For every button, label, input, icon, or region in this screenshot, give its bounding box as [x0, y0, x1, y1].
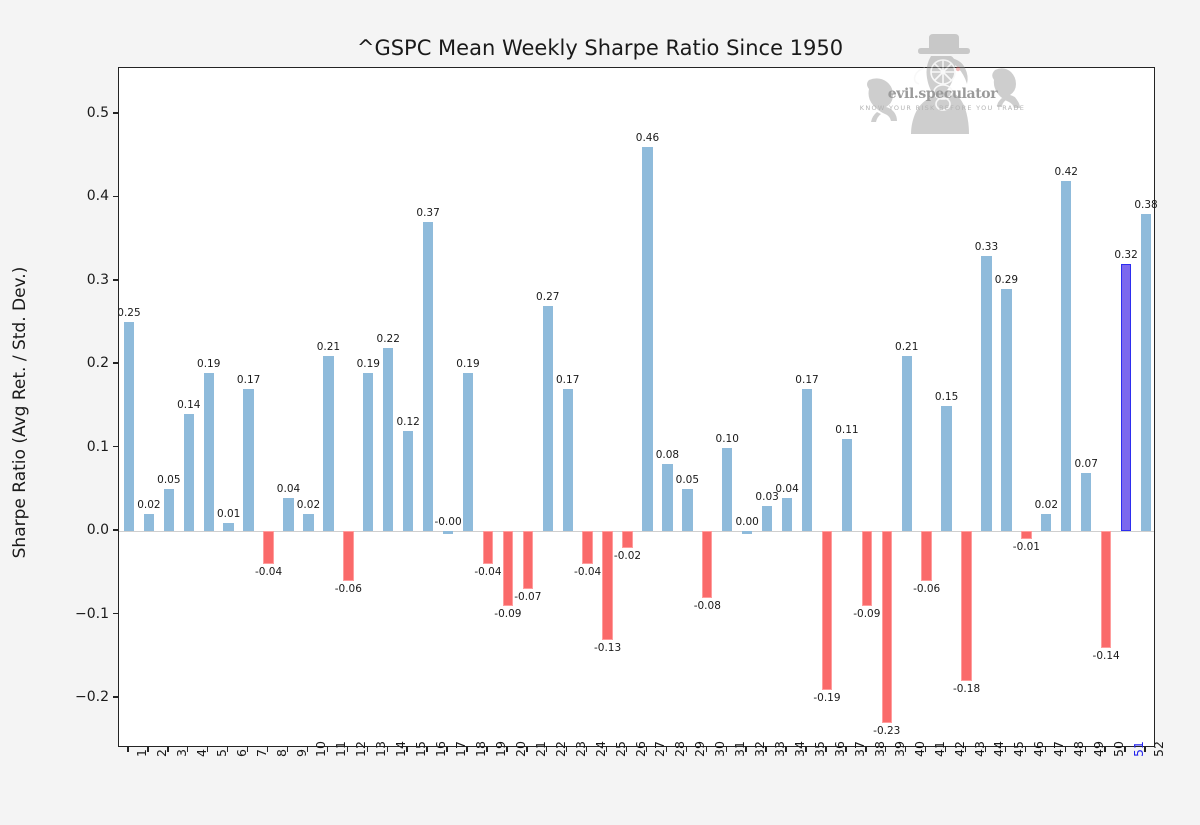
- bar-value-label: -0.02: [614, 550, 641, 562]
- x-tick-mark: [466, 747, 467, 752]
- bar-value-label: 0.21: [895, 341, 918, 353]
- bar-value-label: 0.02: [1035, 499, 1058, 511]
- bar: [204, 373, 214, 532]
- bar-value-label: 0.15: [935, 391, 958, 403]
- bar-value-label: 0.46: [636, 132, 659, 144]
- bar-value-label: -0.19: [813, 692, 840, 704]
- bar: [782, 498, 792, 531]
- x-tick-mark: [1124, 747, 1125, 752]
- x-tick-mark: [765, 747, 766, 752]
- bar: [124, 322, 134, 531]
- x-tick-mark: [566, 747, 567, 752]
- x-tick-mark: [1025, 747, 1026, 752]
- x-tick-mark: [985, 747, 986, 752]
- bar-value-label: 0.02: [137, 499, 160, 511]
- x-tick-mark: [167, 747, 168, 752]
- bar: [363, 373, 373, 532]
- bar: [602, 531, 612, 639]
- bar: [223, 523, 233, 531]
- bar-value-label: 0.02: [297, 499, 320, 511]
- bar: [403, 431, 413, 531]
- x-tick-mark: [745, 747, 746, 752]
- x-tick-mark: [825, 747, 826, 752]
- bar-value-label: 0.38: [1134, 199, 1157, 211]
- x-tick-mark: [1065, 747, 1066, 752]
- bar-value-label: 0.29: [995, 274, 1018, 286]
- bar-value-label: -0.04: [255, 566, 282, 578]
- bar: [423, 222, 433, 531]
- x-tick-mark: [785, 747, 786, 752]
- x-tick-mark: [865, 747, 866, 752]
- bar: [503, 531, 513, 606]
- bar: [443, 531, 453, 534]
- bar: [622, 531, 632, 548]
- bar-value-label: 0.17: [795, 374, 818, 386]
- bar: [1121, 264, 1131, 531]
- bar: [243, 389, 253, 531]
- bar-value-label: 0.27: [536, 291, 559, 303]
- bar-value-label: -0.00: [434, 516, 461, 528]
- x-tick-mark: [287, 747, 288, 752]
- bar-value-label: 0.00: [735, 516, 758, 528]
- bar: [862, 531, 872, 606]
- bars-layer: 0.250.020.050.140.190.010.17-0.040.040.0…: [119, 68, 1154, 746]
- x-tick-mark: [506, 747, 507, 752]
- bar-value-label: -0.04: [574, 566, 601, 578]
- y-tick-label: 0.0: [87, 522, 109, 538]
- y-tick-label: 0.2: [87, 355, 109, 371]
- bar: [642, 147, 652, 531]
- bar-value-label: 0.37: [416, 207, 439, 219]
- bar: [902, 356, 912, 531]
- x-tick-label: 52: [1151, 741, 1166, 757]
- x-tick-mark: [387, 747, 388, 752]
- bar-value-label: 0.19: [357, 358, 380, 370]
- bar: [662, 464, 672, 531]
- x-tick-mark: [686, 747, 687, 752]
- bar: [981, 256, 991, 531]
- bar-value-label: -0.04: [474, 566, 501, 578]
- bar-value-label: 0.25: [117, 307, 140, 319]
- y-tick-label: −0.2: [75, 689, 109, 705]
- x-tick-mark: [726, 747, 727, 752]
- bar: [463, 373, 473, 532]
- bar-value-label: -0.14: [1093, 650, 1120, 662]
- bar-value-label: -0.09: [853, 608, 880, 620]
- bar: [1141, 214, 1151, 531]
- x-tick-mark: [187, 747, 188, 752]
- bar: [1101, 531, 1111, 648]
- bar: [882, 531, 892, 723]
- bar: [343, 531, 353, 581]
- bar: [263, 531, 273, 564]
- figure-canvas: ^GSPC Mean Weekly Sharpe Ratio Since 195…: [0, 0, 1200, 825]
- bar-value-label: 0.05: [676, 474, 699, 486]
- x-tick-mark: [1005, 747, 1006, 752]
- x-tick-mark: [367, 747, 368, 752]
- watermark-brand: evil.speculator: [855, 86, 1030, 102]
- chart-title: ^GSPC Mean Weekly Sharpe Ratio Since 195…: [0, 36, 1200, 60]
- bar-value-label: -0.09: [494, 608, 521, 620]
- bar-value-label: -0.06: [335, 583, 362, 595]
- x-tick-mark: [646, 747, 647, 752]
- bar-value-label: 0.11: [835, 424, 858, 436]
- bar: [164, 489, 174, 531]
- bar: [144, 514, 154, 531]
- x-tick-mark: [845, 747, 846, 752]
- bar-value-label: -0.07: [514, 591, 541, 603]
- bar-value-label: 0.05: [157, 474, 180, 486]
- bar-value-label: 0.12: [396, 416, 419, 428]
- bar: [523, 531, 533, 589]
- x-tick-mark: [885, 747, 886, 752]
- bar: [762, 506, 772, 531]
- x-tick-mark: [606, 747, 607, 752]
- x-tick-mark: [426, 747, 427, 752]
- bar: [184, 414, 194, 531]
- bar: [323, 356, 333, 531]
- bar: [582, 531, 592, 564]
- bar-value-label: 0.10: [716, 433, 739, 445]
- x-tick-mark: [1085, 747, 1086, 752]
- y-axis-label: Sharpe Ratio (Avg Ret. / Std. Dev.): [0, 0, 40, 825]
- bar-value-label: 0.14: [177, 399, 200, 411]
- bar-value-label: 0.19: [197, 358, 220, 370]
- bar-value-label: 0.19: [456, 358, 479, 370]
- bar: [283, 498, 293, 531]
- x-tick-mark: [1144, 747, 1145, 752]
- bar-value-label: 0.17: [556, 374, 579, 386]
- bar: [742, 531, 752, 534]
- bar: [1081, 473, 1091, 531]
- bar: [1041, 514, 1051, 531]
- x-tick-mark: [526, 747, 527, 752]
- bar: [563, 389, 573, 531]
- x-tick-mark: [406, 747, 407, 752]
- x-tick-mark: [1104, 747, 1105, 752]
- bar-value-label: 0.32: [1114, 249, 1137, 261]
- x-tick-mark: [666, 747, 667, 752]
- y-tick-label: 0.4: [87, 188, 109, 204]
- x-tick-mark: [586, 747, 587, 752]
- bar: [543, 306, 553, 531]
- bar-value-label: -0.01: [1013, 541, 1040, 553]
- bar-value-label: -0.13: [594, 642, 621, 654]
- bar: [702, 531, 712, 598]
- x-tick-mark: [546, 747, 547, 752]
- y-tick-label: 0.1: [87, 439, 109, 455]
- bar-value-label: 0.04: [775, 483, 798, 495]
- bar: [483, 531, 493, 564]
- x-tick-mark: [706, 747, 707, 752]
- x-tick-mark: [626, 747, 627, 752]
- bar: [921, 531, 931, 581]
- bar: [822, 531, 832, 690]
- bar-value-label: 0.04: [277, 483, 300, 495]
- bar: [303, 514, 313, 531]
- x-tick-mark: [347, 747, 348, 752]
- y-tick-label: 0.5: [87, 105, 109, 121]
- x-tick-mark: [486, 747, 487, 752]
- x-tick-mark: [327, 747, 328, 752]
- x-tick-mark: [805, 747, 806, 752]
- bar-value-label: -0.23: [873, 725, 900, 737]
- bar: [961, 531, 971, 681]
- bar: [383, 348, 393, 532]
- bar: [1001, 289, 1011, 531]
- bar: [722, 448, 732, 531]
- x-tick-mark: [247, 747, 248, 752]
- bar: [802, 389, 812, 531]
- y-tick-label: −0.1: [75, 606, 109, 622]
- x-tick-mark: [307, 747, 308, 752]
- x-tick-mark: [267, 747, 268, 752]
- bar: [941, 406, 951, 531]
- bar-value-label: 0.42: [1055, 166, 1078, 178]
- x-tick-mark: [965, 747, 966, 752]
- x-tick-mark: [925, 747, 926, 752]
- y-tick-label: 0.3: [87, 272, 109, 288]
- bar-value-label: 0.33: [975, 241, 998, 253]
- bar: [1021, 531, 1031, 539]
- bar-value-label: -0.06: [913, 583, 940, 595]
- bar-value-label: 0.07: [1074, 458, 1097, 470]
- bar-value-label: -0.18: [953, 683, 980, 695]
- bar-value-label: 0.17: [237, 374, 260, 386]
- x-tick-mark: [945, 747, 946, 752]
- x-tick-mark: [227, 747, 228, 752]
- plot-area: 0.250.020.050.140.190.010.17-0.040.040.0…: [118, 67, 1155, 747]
- x-tick-mark: [127, 747, 128, 752]
- bar: [682, 489, 692, 531]
- x-tick-mark: [446, 747, 447, 752]
- watermark-tagline: KNOW YOUR RISK BEFORE YOU TRADE: [855, 104, 1030, 112]
- x-tick-mark: [207, 747, 208, 752]
- bar-value-label: -0.08: [694, 600, 721, 612]
- x-tick-mark: [1045, 747, 1046, 752]
- bar: [842, 439, 852, 531]
- x-tick-mark: [905, 747, 906, 752]
- bar-value-label: 0.08: [656, 449, 679, 461]
- x-tick-mark: [147, 747, 148, 752]
- bar: [1061, 181, 1071, 531]
- bar-value-label: 0.21: [317, 341, 340, 353]
- zero-baseline: [119, 531, 1154, 532]
- bar-value-label: 0.22: [377, 333, 400, 345]
- bar-value-label: 0.01: [217, 508, 240, 520]
